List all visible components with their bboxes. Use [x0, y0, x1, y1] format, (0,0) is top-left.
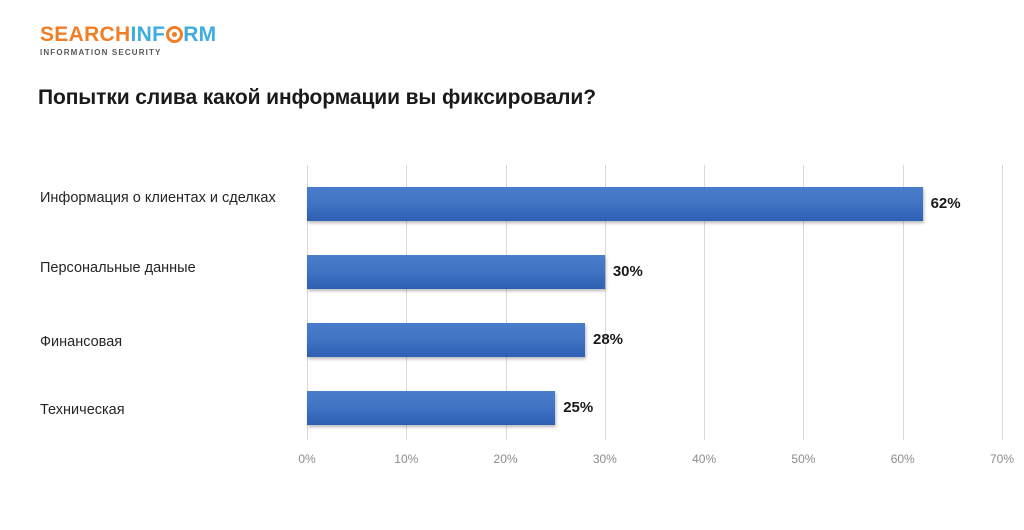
category-label: Техническая: [40, 400, 298, 420]
plot-area: 62%30%28%25%: [307, 165, 1002, 440]
x-tick-label: 70%: [990, 452, 1014, 466]
bar-row[interactable]: 25%: [307, 391, 1002, 425]
bar-row[interactable]: 30%: [307, 255, 1002, 289]
slide: SEARCHINFRM INFORMATION SECURITY Попытки…: [0, 0, 1024, 530]
category-label: Персональные данные: [40, 258, 298, 278]
bar-row[interactable]: 28%: [307, 323, 1002, 357]
bar[interactable]: [307, 255, 605, 289]
bar-value-label: 62%: [923, 187, 961, 221]
x-tick-label: 50%: [791, 452, 815, 466]
bar[interactable]: [307, 187, 923, 221]
x-tick-label: 40%: [692, 452, 716, 466]
bar-row[interactable]: 62%: [307, 187, 1002, 221]
gridline: [1002, 165, 1003, 440]
category-label: Информация о клиентах и сделках: [40, 188, 298, 208]
bar[interactable]: [307, 323, 585, 357]
bar-value-label: 25%: [555, 391, 593, 425]
bar-value-label: 28%: [585, 323, 623, 357]
bar[interactable]: [307, 391, 555, 425]
x-tick-label: 0%: [298, 452, 315, 466]
x-tick-label: 30%: [593, 452, 617, 466]
x-tick-label: 60%: [891, 452, 915, 466]
bar-chart: Информация о клиентах и сделках Персонал…: [0, 0, 1024, 530]
bar-value-label: 30%: [605, 255, 643, 289]
x-tick-label: 20%: [494, 452, 518, 466]
x-tick-label: 10%: [394, 452, 418, 466]
category-label: Финансовая: [40, 332, 298, 352]
